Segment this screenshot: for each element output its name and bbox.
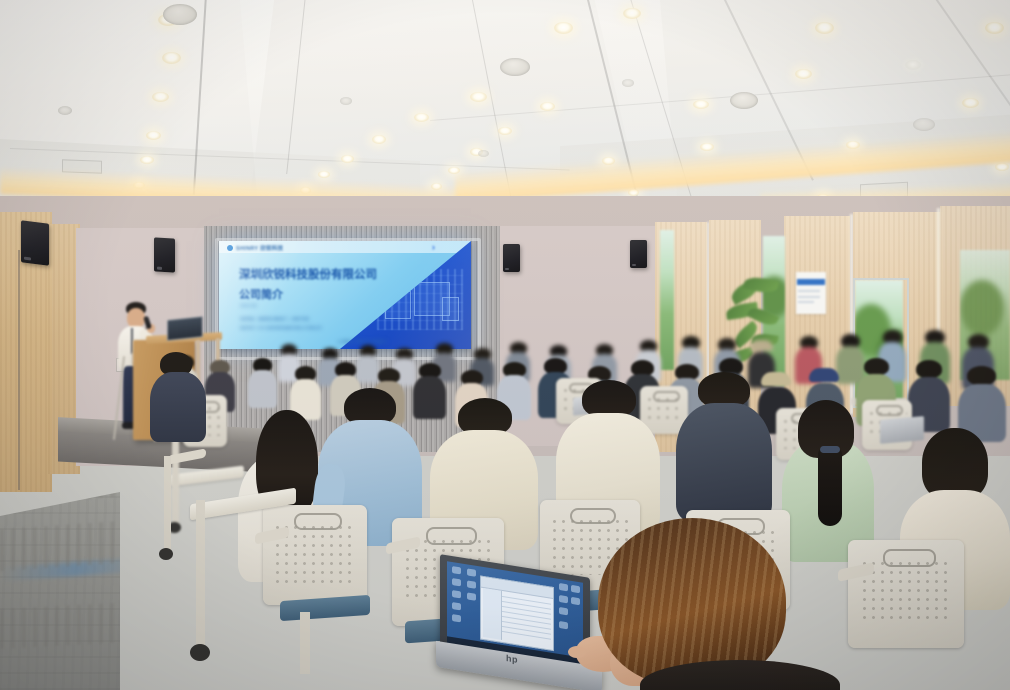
screen-glare xyxy=(219,241,471,349)
conference-room-photo: SHINRY 欣锐科技 › 深圳欣锐科技股份有限公司 公司简介 2024.08 … xyxy=(0,0,1010,690)
wall-speaker-icon xyxy=(630,240,647,268)
poster-header-band xyxy=(797,279,825,286)
presenter-head xyxy=(127,308,145,328)
chair-back xyxy=(848,540,964,648)
smoke-detector-icon xyxy=(913,118,935,131)
ceiling-downlight xyxy=(962,98,979,108)
audience-member-front xyxy=(150,352,206,440)
ceiling-downlight xyxy=(540,102,555,111)
cap-icon xyxy=(750,340,773,351)
podium-laptop xyxy=(167,316,203,341)
hair-tie xyxy=(820,446,840,453)
chair-caster xyxy=(159,548,173,560)
ceiling-downlight xyxy=(140,156,154,164)
smoke-detector-icon xyxy=(58,106,72,115)
ceiling-downlight xyxy=(985,22,1004,34)
ceiling-downlight xyxy=(318,171,330,178)
ceiling-speaker-icon xyxy=(163,4,197,25)
chair-post xyxy=(300,612,310,674)
ceiling-downlight xyxy=(554,22,573,34)
audience-member-front xyxy=(676,372,772,518)
ceiling-downlight xyxy=(146,131,161,140)
ceiling-downlight xyxy=(905,60,921,70)
wall-speaker-icon xyxy=(21,220,49,265)
ceiling-downlight xyxy=(795,69,812,79)
wall-poster xyxy=(796,272,826,314)
spreadsheet-window[interactable] xyxy=(480,575,554,651)
foreground-laptop[interactable]: hp xyxy=(440,566,618,690)
ceiling-downlight xyxy=(470,92,487,102)
ceiling-downlight xyxy=(693,100,709,109)
finger xyxy=(568,646,586,658)
ceiling-downlight xyxy=(700,143,714,151)
chair-back xyxy=(263,505,367,605)
ceiling-downlight xyxy=(815,22,834,34)
ceiling-speaker-icon xyxy=(730,92,758,109)
ceiling-downlight xyxy=(372,135,386,144)
smoke-detector-icon xyxy=(478,150,489,157)
cap-icon xyxy=(809,368,839,382)
ceiling-downlight xyxy=(623,8,641,19)
wall-cable xyxy=(18,250,20,490)
ceiling-downlight xyxy=(995,163,1009,171)
chair-post xyxy=(164,456,171,552)
ponytail-tail xyxy=(818,448,842,526)
chair-post xyxy=(196,500,205,650)
ceiling-downlight xyxy=(341,155,354,163)
smoke-detector-icon xyxy=(340,97,352,105)
projection-screen: SHINRY 欣锐科技 › 深圳欣锐科技股份有限公司 公司简介 2024.08 … xyxy=(219,241,471,349)
ceiling-downlight xyxy=(498,127,512,135)
chair-caster xyxy=(190,644,210,661)
ceiling-downlight xyxy=(414,113,429,122)
ceiling-downlight xyxy=(152,92,169,102)
window-left xyxy=(660,230,674,370)
smoke-detector-icon xyxy=(622,79,634,87)
ceiling-downlight xyxy=(162,52,181,64)
ceiling-speaker-icon xyxy=(500,58,530,76)
audience-member xyxy=(248,358,277,406)
wall-speaker-icon xyxy=(154,237,175,272)
hp-logo: hp xyxy=(506,653,518,665)
wall-speaker-icon xyxy=(503,244,520,272)
